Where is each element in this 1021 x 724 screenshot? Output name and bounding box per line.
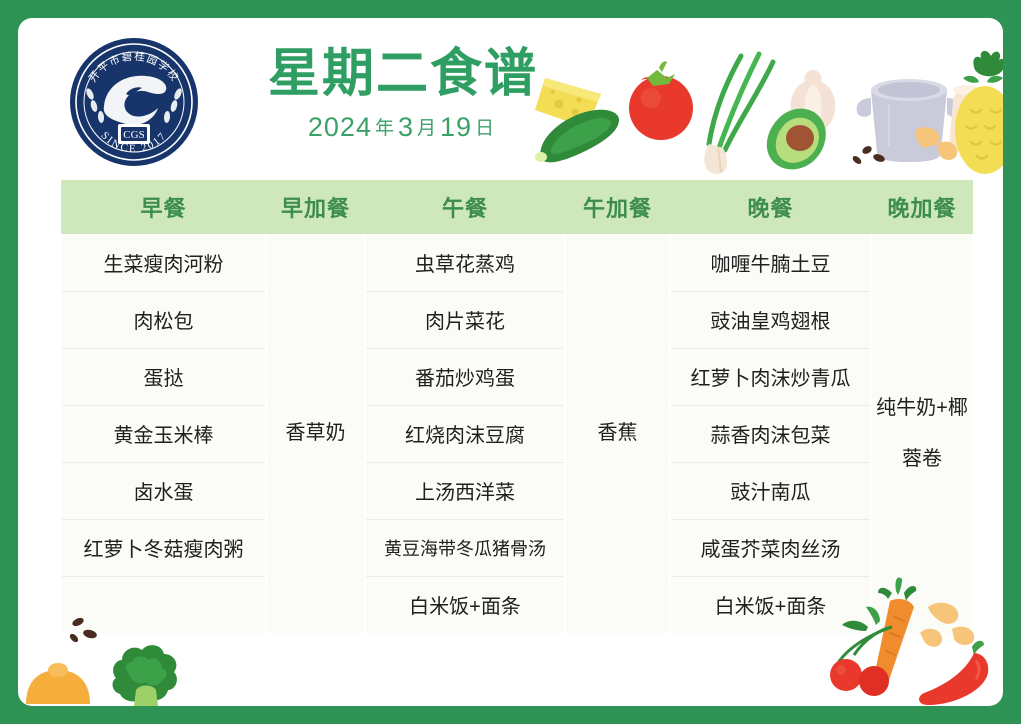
cell-lunch-7: 白米饭+面条 bbox=[365, 576, 565, 633]
date-day-unit: 日 bbox=[472, 118, 498, 139]
cell-morning-snack: 香草奶 bbox=[266, 234, 365, 633]
date-month-unit: 月 bbox=[414, 118, 440, 139]
cell-dinner-2: 豉油皇鸡翅根 bbox=[670, 291, 871, 348]
tomato-icon bbox=[629, 61, 693, 140]
table-header-row: 早餐 早加餐 午餐 午加餐 晚餐 晚加餐 bbox=[61, 180, 973, 234]
cell-lunch-6: 黄豆海带冬瓜猪骨汤 bbox=[365, 519, 565, 576]
header-food-illustrations bbox=[523, 48, 1003, 178]
table-row: 卤水蛋 上汤西洋菜 豉汁南瓜 bbox=[61, 462, 973, 519]
menu-table: 早餐 早加餐 午餐 午加餐 晚餐 晚加餐 生菜瘦肉河粉 香草奶 虫草花蒸鸡 香蕉… bbox=[60, 180, 974, 633]
cell-dinner-1: 咖喱牛腩土豆 bbox=[670, 234, 871, 291]
menu-poster: CGS 开平市碧桂园学校 SINCE 2017 星期二食谱 2024年3月19日 bbox=[0, 0, 1021, 724]
table-row: 肉松包 肉片菜花 豉油皇鸡翅根 bbox=[61, 291, 973, 348]
column-header-dinner: 晚餐 bbox=[670, 180, 871, 234]
page-title: 星期二食谱 bbox=[258, 46, 548, 102]
column-header-evening-snack: 晚加餐 bbox=[871, 180, 973, 234]
cell-dinner-3: 红萝卜肉沫炒青瓜 bbox=[670, 348, 871, 405]
table-row: 生菜瘦肉河粉 香草奶 虫草花蒸鸡 香蕉 咖喱牛腩土豆 纯牛奶+椰蓉卷 bbox=[61, 234, 973, 291]
date-year-unit: 年 bbox=[372, 118, 398, 139]
cell-lunch-1: 虫草花蒸鸡 bbox=[365, 234, 565, 291]
date-month: 3 bbox=[398, 112, 414, 142]
column-header-breakfast: 早餐 bbox=[61, 180, 266, 234]
poster-inner-panel: CGS 开平市碧桂园学校 SINCE 2017 星期二食谱 2024年3月19日 bbox=[18, 18, 1003, 706]
cell-breakfast-2: 肉松包 bbox=[61, 291, 266, 348]
cell-dinner-6: 咸蛋芥菜肉丝汤 bbox=[670, 519, 871, 576]
cell-dinner-7: 白米饭+面条 bbox=[670, 576, 871, 633]
title-block: 星期二食谱 2024年3月19日 bbox=[258, 46, 548, 143]
cell-breakfast-7 bbox=[61, 576, 266, 633]
logo-monogram: CGS bbox=[123, 129, 144, 141]
date-line: 2024年3月19日 bbox=[258, 112, 548, 143]
table-row: 黄金玉米棒 红烧肉沫豆腐 蒜香肉沫包菜 bbox=[61, 405, 973, 462]
column-header-afternoon-snack: 午加餐 bbox=[565, 180, 670, 234]
cell-lunch-3: 番茄炒鸡蛋 bbox=[365, 348, 565, 405]
table-row: 红萝卜冬菇瘦肉粥 黄豆海带冬瓜猪骨汤 咸蛋芥菜肉丝汤 bbox=[61, 519, 973, 576]
cucumber-icon bbox=[535, 110, 619, 163]
column-header-morning-snack: 早加餐 bbox=[266, 180, 365, 234]
broccoli-icon bbox=[113, 645, 177, 706]
cell-lunch-4: 红烧肉沫豆腐 bbox=[365, 405, 565, 462]
green-onion-icon bbox=[704, 54, 773, 174]
citrus-juicer-icon bbox=[26, 663, 90, 704]
date-day: 19 bbox=[440, 112, 472, 142]
avocado-icon bbox=[767, 109, 826, 170]
poster-header: CGS 开平市碧桂园学校 SINCE 2017 星期二食谱 2024年3月19日 bbox=[18, 18, 1003, 178]
cell-breakfast-5: 卤水蛋 bbox=[61, 462, 266, 519]
cell-breakfast-6: 红萝卜冬菇瘦肉粥 bbox=[61, 519, 266, 576]
chili-pepper-icon bbox=[919, 641, 988, 705]
pineapple-icon bbox=[955, 51, 1003, 174]
cell-lunch-2: 肉片菜花 bbox=[365, 291, 565, 348]
cell-breakfast-1: 生菜瘦肉河粉 bbox=[61, 234, 266, 291]
cell-breakfast-3: 蛋挞 bbox=[61, 348, 266, 405]
school-logo: CGS 开平市碧桂园学校 SINCE 2017 bbox=[68, 36, 200, 168]
cell-evening-snack: 纯牛奶+椰蓉卷 bbox=[871, 234, 973, 633]
column-header-lunch: 午餐 bbox=[365, 180, 565, 234]
table-row: 蛋挞 番茄炒鸡蛋 红萝卜肉沫炒青瓜 bbox=[61, 348, 973, 405]
cell-dinner-4: 蒜香肉沫包菜 bbox=[670, 405, 871, 462]
cell-lunch-5: 上汤西洋菜 bbox=[365, 462, 565, 519]
date-year: 2024 bbox=[308, 112, 372, 142]
cell-breakfast-4: 黄金玉米棒 bbox=[61, 405, 266, 462]
cell-afternoon-snack: 香蕉 bbox=[565, 234, 670, 633]
table-row: 白米饭+面条 白米饭+面条 bbox=[61, 576, 973, 633]
cell-dinner-5: 豉汁南瓜 bbox=[670, 462, 871, 519]
